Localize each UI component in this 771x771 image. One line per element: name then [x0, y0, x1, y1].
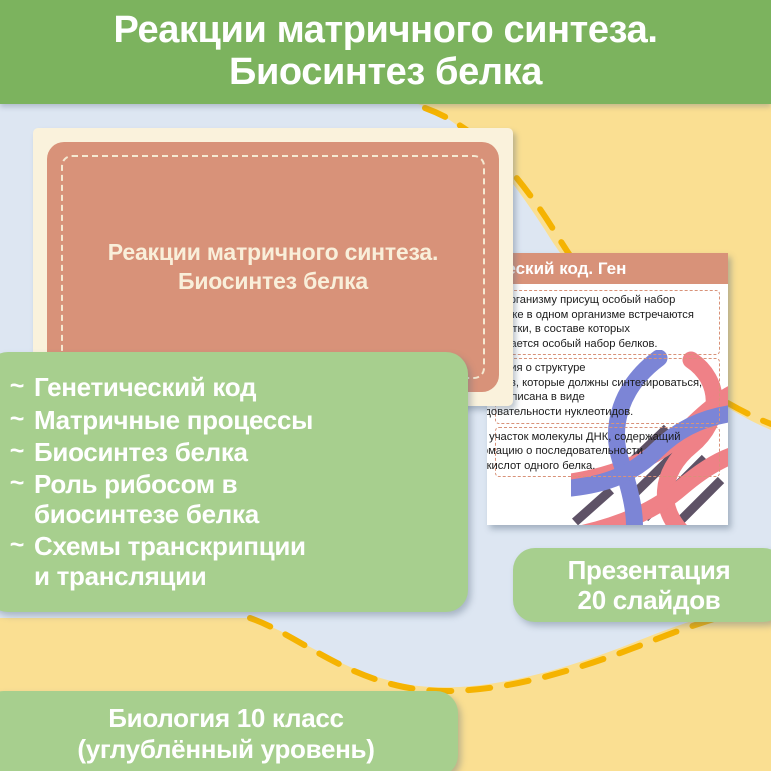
text-line: аминокислот одного белка.: [487, 459, 713, 474]
list-item: ~ Роль рибосом в биосинтезе белка: [0, 469, 450, 529]
text-line: Каждому организму присущ особый набор: [487, 293, 713, 308]
list-item-label: Генетический код: [34, 372, 256, 402]
list-item-label: Схемы транскрипции и трансляции: [34, 531, 306, 591]
text-line: Информация о структуре: [487, 361, 713, 376]
text-line: Ген — участок молекулы ДНК, содержащий: [487, 430, 713, 445]
text-line: информацию о последовательности: [487, 444, 713, 459]
tilde-bullet-icon: ~: [0, 531, 34, 560]
tilde-bullet-icon: ~: [0, 437, 34, 466]
list-item: ~ Схемы транскрипции и трансляции: [0, 531, 450, 591]
text-line: разные клетки, в составе которых: [487, 322, 713, 337]
tilde-bullet-icon: ~: [0, 469, 34, 498]
text-line: белков. Даже в одном организме встречают…: [487, 308, 713, 323]
text-line: обнаруживается особый набор белков.: [487, 337, 713, 352]
tilde-bullet-icon: ~: [0, 405, 34, 434]
text-line: в клетке записана в виде: [487, 390, 713, 405]
slide-card-gen[interactable]: Генетический код. Ген Каждому организму …: [487, 253, 728, 525]
list-item-label: Матричные процессы: [34, 405, 313, 435]
presentation-count-text: Презентация 20 слайдов: [568, 555, 731, 615]
text-line: последовательности нуклеотидов.: [487, 405, 713, 420]
text-line: всех белков, которые должны синтезироват…: [487, 376, 713, 391]
list-item-label: Биосинтез белка: [34, 437, 248, 467]
header-banner: Реакции матричного синтеза. Биосинтез бе…: [0, 0, 771, 104]
slide-card-gen-header: Генетический код. Ген: [487, 253, 728, 284]
list-item: ~ Биосинтез белка: [0, 437, 450, 467]
presentation-count-badge: Презентация 20 слайдов: [513, 548, 771, 622]
text-block: Каждому организму присущ особый набор бе…: [495, 290, 720, 355]
subject-level-text: Биология 10 класс (углублённый уровень): [65, 703, 374, 764]
slide-card-title-text: Реакции матричного синтеза. Биосинтез бе…: [86, 238, 460, 297]
list-item-label: Роль рибосом в биосинтезе белка: [34, 469, 259, 529]
slide-card-gen-body: Каждому организму присущ особый набор бе…: [487, 284, 728, 525]
page-title: Реакции матричного синтеза. Биосинтез бе…: [103, 10, 667, 94]
subject-level-badge: Биология 10 класс (углублённый уровень): [0, 691, 458, 771]
tilde-bullet-icon: ~: [0, 372, 34, 401]
topics-list-box: ~ Генетический код ~ Матричные процессы …: [0, 352, 468, 612]
list-item: ~ Матричные процессы: [0, 405, 450, 435]
text-block: Информация о структуре всех белков, кото…: [495, 358, 720, 423]
text-block: Ген — участок молекулы ДНК, содержащий и…: [495, 427, 720, 478]
list-item: ~ Генетический код: [0, 372, 450, 402]
